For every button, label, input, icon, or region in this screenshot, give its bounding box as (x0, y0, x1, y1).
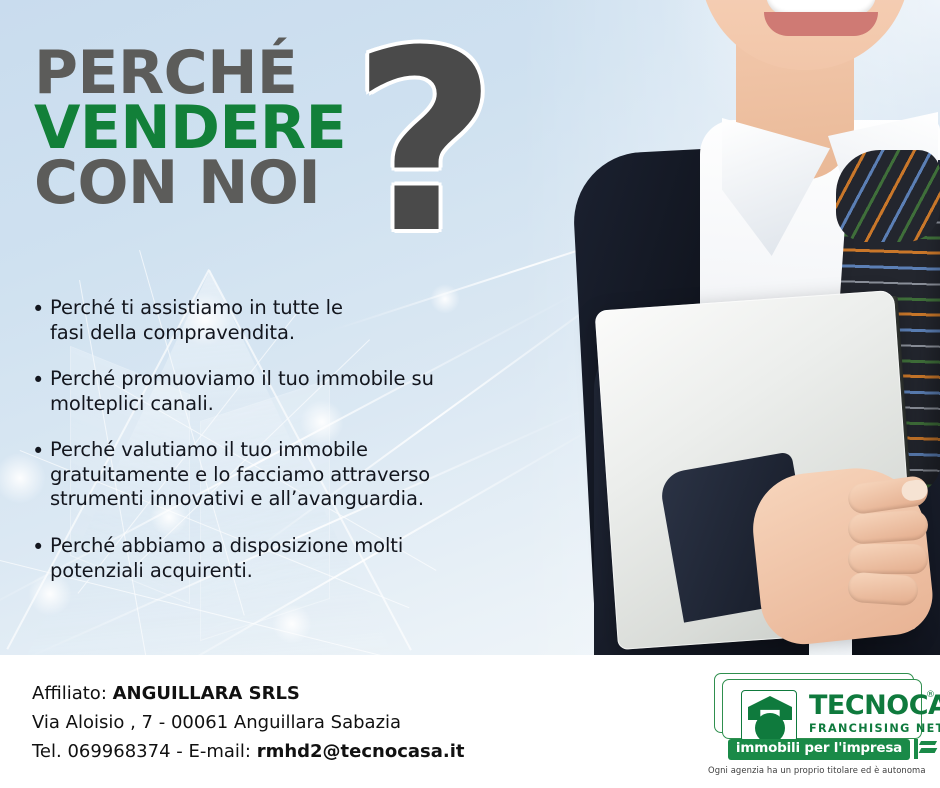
footer: Affiliato: ANGUILLARA SRLS Via Aloisio ,… (0, 655, 940, 788)
logo-frame-front: TECNOCASA ® FRANCHISING NETWORK (722, 679, 922, 739)
affiliate-label: Affiliato: (32, 683, 113, 704)
list-item: • Perché promuoviamo il tuo immobile su … (32, 367, 552, 416)
logo-brand-text: TECNOCASA (809, 692, 940, 719)
contact-block: Affiliato: ANGUILLARA SRLS Via Aloisio ,… (32, 679, 465, 766)
address-line: Via Aloisio , 7 - 00061 Anguillara Sabaz… (32, 708, 465, 737)
registered-trademark-icon: ® (926, 690, 935, 700)
bullet-marker: • (32, 296, 50, 345)
finger (846, 475, 929, 516)
house-icon (741, 690, 797, 742)
phone-label: Tel. 069968374 - E-mail: (32, 741, 257, 762)
list-item: • Perché valutiamo il tuo immobile gratu… (32, 438, 552, 512)
benefits-list: • Perché ti assistiamo in tutte le fasi … (32, 296, 552, 605)
poster-root: PERCHÉ VENDERE CON NOI ? • Perché ti ass… (0, 0, 940, 788)
bullet-marker: • (32, 534, 50, 583)
logo-tagline: FRANCHISING NETWORK (809, 723, 940, 734)
finger (848, 544, 928, 574)
bullet-text: Perché promuoviamo il tuo immobile su mo… (50, 367, 434, 416)
finger (847, 572, 919, 607)
flag-icon (914, 739, 938, 759)
logo-banner: immobili per l'impresa (728, 739, 910, 760)
phone-email-line: Tel. 069968374 - E-mail: rmhd2@tecnocasa… (32, 737, 465, 766)
bullet-text: Perché valutiamo il tuo immobile gratuit… (50, 438, 430, 512)
lower-lip (764, 12, 878, 36)
finger (847, 509, 929, 545)
bullet-text: Perché ti assistiamo in tutte le fasi de… (50, 296, 343, 345)
bullet-marker: • (32, 367, 50, 416)
list-item: • Perché ti assistiamo in tutte le fasi … (32, 296, 552, 345)
fingers (848, 480, 934, 630)
affiliate-line: Affiliato: ANGUILLARA SRLS (32, 679, 465, 708)
affiliate-name: ANGUILLARA SRLS (113, 683, 300, 704)
businesswoman-photo (560, 0, 940, 655)
logo-disclaimer: Ogni agenzia ha un proprio titolare ed è… (708, 765, 922, 775)
hero-image-area: PERCHÉ VENDERE CON NOI ? • Perché ti ass… (0, 0, 940, 655)
bullet-text: Perché abbiamo a disposizione molti pote… (50, 534, 403, 583)
question-mark-graphic: ? (352, 18, 497, 268)
tecnocasa-logo[interactable]: TECNOCASA ® FRANCHISING NETWORK immobili… (708, 673, 922, 777)
logo-banner-text: immobili per l'impresa (728, 742, 910, 756)
house-circle-shape (755, 713, 785, 742)
scarf-knot (836, 150, 940, 242)
list-item: • Perché abbiamo a disposizione molti po… (32, 534, 552, 583)
email-address[interactable]: rmhd2@tecnocasa.it (257, 741, 465, 762)
fingernail (900, 479, 929, 502)
bullet-marker: • (32, 438, 50, 512)
